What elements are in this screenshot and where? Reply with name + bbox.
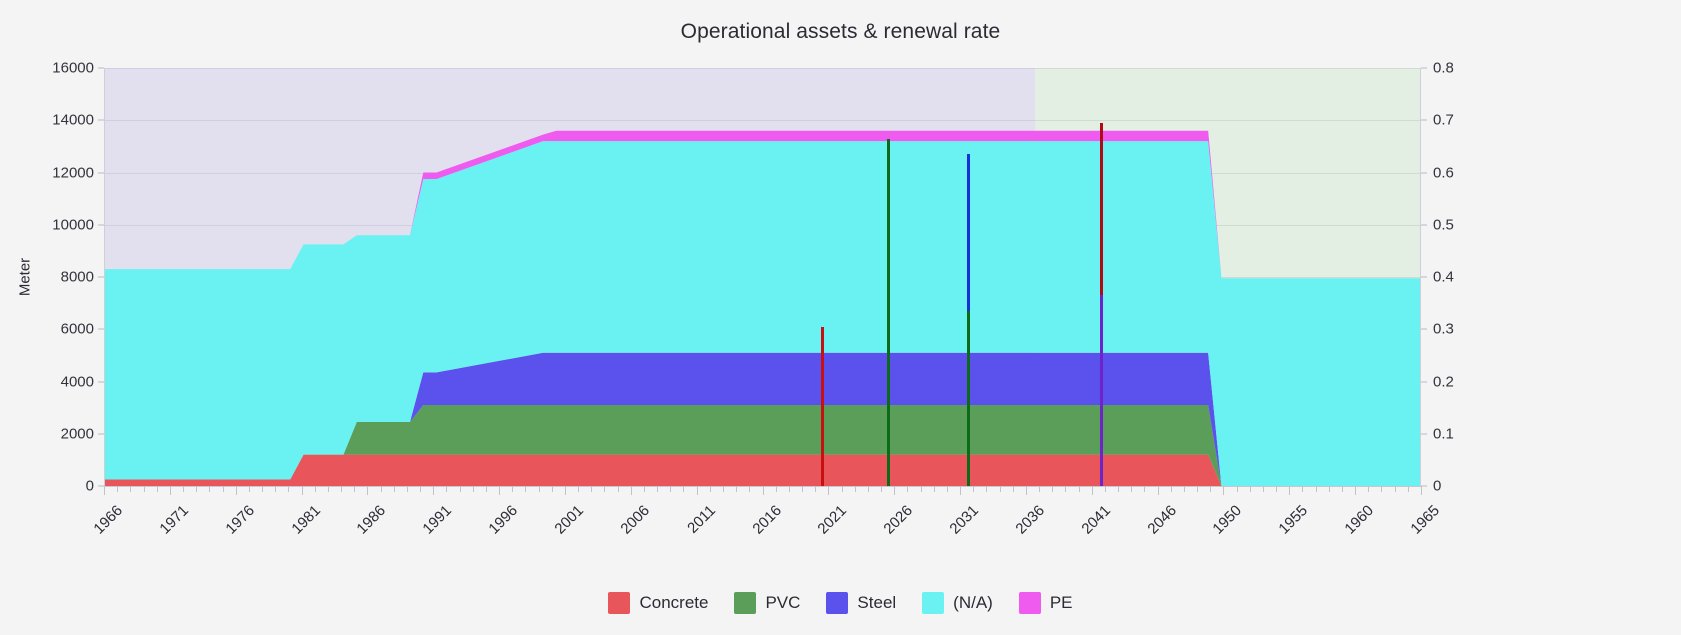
x-axis-tick-mark — [328, 486, 329, 492]
y-axis-right-tick-mark — [1421, 224, 1427, 225]
x-axis-tick-mark — [262, 486, 263, 492]
x-axis-tick-mark — [960, 486, 961, 495]
x-axis-tick-mark — [763, 486, 764, 495]
y-axis-right-tick-mark — [1421, 172, 1427, 173]
x-axis-tick-mark — [1395, 486, 1396, 492]
legend-label: PE — [1050, 593, 1073, 613]
x-axis-tick-label: 2011 — [684, 502, 719, 537]
x-axis-tick-mark — [1342, 486, 1343, 492]
x-axis-tick-label: 2006 — [617, 502, 653, 538]
plot-area — [104, 68, 1421, 486]
x-axis-tick-mark — [604, 486, 605, 492]
x-axis-tick-mark — [842, 486, 843, 492]
x-axis-tick-mark — [209, 486, 210, 492]
x-axis-tick-mark — [1302, 486, 1303, 492]
x-axis-tick-mark — [591, 486, 592, 492]
plot-border-left — [104, 68, 105, 486]
y-axis-right-tick-mark — [1421, 329, 1427, 330]
x-axis-tick-mark — [223, 486, 224, 492]
x-axis-tick-label: 1965 — [1407, 502, 1443, 538]
legend-item-pvc[interactable]: PVC — [734, 592, 800, 614]
y-axis-left-tick: 8000 — [61, 269, 94, 286]
x-axis-tick-label: 1955 — [1276, 502, 1312, 538]
x-axis-tick-mark — [934, 486, 935, 492]
x-axis-tick-mark — [1000, 486, 1001, 492]
x-axis-tick-mark — [802, 486, 803, 492]
x-axis-tick-mark — [868, 486, 869, 492]
x-axis-tick-mark — [473, 486, 474, 492]
x-axis-tick-mark — [1144, 486, 1145, 492]
x-axis-tick-mark — [1013, 486, 1014, 492]
x-axis-tick-mark — [1079, 486, 1080, 492]
y-axis-right-tick: 0.8 — [1433, 60, 1454, 77]
x-axis-tick-label: 2036 — [1012, 502, 1048, 538]
x-axis-tick-mark — [196, 486, 197, 492]
y-axis-right-tick-mark — [1421, 381, 1427, 382]
x-axis-tick-mark — [407, 486, 408, 492]
legend-item-steel[interactable]: Steel — [826, 592, 896, 614]
x-axis-tick-mark — [354, 486, 355, 492]
x-axis-tick-mark — [1118, 486, 1119, 492]
x-axis-tick-mark — [420, 486, 421, 492]
y-axis-left-tick: 4000 — [61, 373, 94, 390]
legend-swatch-icon — [826, 592, 848, 614]
y-axis-right-tick: 0.7 — [1433, 112, 1454, 129]
series-layer — [104, 68, 1421, 486]
x-axis-tick-mark — [236, 486, 237, 495]
y-axis-right-tick-mark — [1421, 433, 1427, 434]
x-axis-tick-label: 1981 — [288, 502, 324, 538]
x-axis-tick-mark — [525, 486, 526, 492]
x-axis-tick-mark — [723, 486, 724, 492]
y-axis-left-tick: 10000 — [52, 216, 94, 233]
x-axis-tick-mark — [1171, 486, 1172, 492]
y-axis-left-title: Meter — [17, 258, 34, 296]
y-axis-left-tick: 0 — [86, 478, 94, 495]
x-axis-tick-mark — [1421, 486, 1422, 495]
x-axis-tick-mark — [1197, 486, 1198, 492]
y-axis-right-tick-mark — [1421, 120, 1427, 121]
legend-label: Steel — [857, 593, 896, 613]
x-axis-tick-label: 1960 — [1342, 502, 1378, 538]
x-axis-tick-mark — [907, 486, 908, 492]
legend-item-concrete[interactable]: Concrete — [608, 592, 708, 614]
y-axis-right-tick-mark — [1421, 68, 1427, 69]
x-axis-tick-mark — [1381, 486, 1382, 492]
x-axis-tick-mark — [565, 486, 566, 495]
y-axis-right-title-wrap: Value.RenewalRatioOnQuantity — [1596, 68, 1681, 486]
legend-label: PVC — [765, 593, 800, 613]
y-axis-left-tick: 6000 — [61, 321, 94, 338]
legend-swatch-icon — [734, 592, 756, 614]
y-axis-left-tick: 14000 — [52, 112, 94, 129]
x-axis-tick-mark — [302, 486, 303, 495]
legend-item-na[interactable]: (N/A) — [922, 592, 993, 614]
x-axis-tick-mark — [921, 486, 922, 492]
x-axis-tick-label: 1996 — [485, 502, 521, 538]
x-axis-tick-mark — [631, 486, 632, 495]
x-axis-tick-label: 2026 — [881, 502, 917, 538]
x-axis-tick-label: 2046 — [1144, 502, 1180, 538]
y-axis-left: Meter 0200040006000800010000120001400016… — [0, 68, 104, 486]
x-axis-tick-label: 1991 — [420, 502, 456, 538]
x-axis-tick-mark — [749, 486, 750, 492]
x-axis-tick-mark — [539, 486, 540, 492]
x-axis-tick-mark — [249, 486, 250, 492]
y-axis-right-tick: 0 — [1433, 478, 1441, 495]
y-axis-right-tick: 0.1 — [1433, 425, 1454, 442]
x-axis-tick-mark — [381, 486, 382, 492]
x-axis-tick-mark — [512, 486, 513, 492]
y-axis-left-tick: 12000 — [52, 164, 94, 181]
legend-swatch-icon — [1019, 592, 1041, 614]
x-axis-tick-label: 1950 — [1210, 502, 1246, 538]
x-axis-tick-mark — [157, 486, 158, 492]
legend-label: (N/A) — [953, 593, 993, 613]
x-axis-tick-label: 2021 — [815, 502, 851, 538]
legend-swatch-icon — [922, 592, 944, 614]
marker-line — [821, 327, 824, 486]
x-axis-tick-mark — [1158, 486, 1159, 495]
x-axis-tick-mark — [1092, 486, 1093, 495]
x-axis-tick-mark — [1329, 486, 1330, 492]
x-axis-tick-mark — [1408, 486, 1409, 492]
x-axis-tick-label: 2001 — [551, 502, 587, 538]
legend-swatch-icon — [608, 592, 630, 614]
x-axis-tick-mark — [1026, 486, 1027, 495]
x-axis-tick-mark — [618, 486, 619, 492]
x-axis-tick-mark — [499, 486, 500, 495]
x-axis-tick-mark — [1223, 486, 1224, 495]
y-axis-right: 00.10.20.30.40.50.60.70.8 — [1421, 68, 1491, 486]
chart-root: Operational assets & renewal rate Meter … — [0, 0, 1681, 635]
marker-line — [967, 311, 970, 486]
x-axis-tick-label: 2016 — [749, 502, 785, 538]
x-axis-tick-mark — [1237, 486, 1238, 492]
x-axis-tick-mark — [710, 486, 711, 492]
x-axis-tick-mark — [486, 486, 487, 492]
x-axis-tick-mark — [552, 486, 553, 492]
marker-line — [1100, 295, 1103, 486]
x-axis-tick-label: 2041 — [1078, 502, 1114, 538]
marker-line — [887, 139, 890, 486]
x-axis-tick-mark — [815, 486, 816, 492]
x-axis-tick-mark — [104, 486, 105, 495]
x-axis-tick-mark — [460, 486, 461, 492]
x-axis-tick-mark — [341, 486, 342, 492]
x-axis-tick-mark — [1355, 486, 1356, 495]
x-axis-tick-mark — [657, 486, 658, 492]
x-axis-tick-mark — [644, 486, 645, 492]
x-axis-tick-mark — [1289, 486, 1290, 495]
y-axis-right-tick: 0.2 — [1433, 373, 1454, 390]
x-axis-tick-mark — [828, 486, 829, 495]
x-axis-tick-mark — [446, 486, 447, 492]
y-axis-right-tick: 0.4 — [1433, 269, 1454, 286]
x-axis-tick-mark — [1052, 486, 1053, 492]
chart-title: Operational assets & renewal rate — [0, 20, 1681, 44]
x-axis-tick-mark — [394, 486, 395, 492]
x-axis-tick-mark — [183, 486, 184, 492]
x-axis-tick-mark — [855, 486, 856, 492]
x-axis-tick-mark — [275, 486, 276, 492]
x-axis-tick-mark — [697, 486, 698, 495]
x-axis-tick-mark — [1105, 486, 1106, 492]
y-axis-right-tick: 0.3 — [1433, 321, 1454, 338]
x-axis-tick-mark — [1316, 486, 1317, 492]
x-axis-tick-mark — [776, 486, 777, 492]
x-axis-tick-mark — [881, 486, 882, 492]
x-axis-tick-mark — [1039, 486, 1040, 492]
x-axis-tick-mark — [144, 486, 145, 492]
legend-label: Concrete — [639, 593, 708, 613]
x-axis-tick-label: 1986 — [354, 502, 390, 538]
x-axis-tick-mark — [1131, 486, 1132, 492]
x-axis-tick-mark — [1263, 486, 1264, 492]
x-axis-tick-mark — [947, 486, 948, 492]
x-axis-tick-label: 1971 — [156, 502, 192, 538]
x-axis-tick-label: 1976 — [222, 502, 258, 538]
x-axis-tick-mark — [433, 486, 434, 495]
x-axis-tick-mark — [1276, 486, 1277, 492]
x-axis-tick-mark — [170, 486, 171, 495]
x-axis-tick-mark — [367, 486, 368, 495]
x-axis-tick-mark — [1368, 486, 1369, 492]
y-axis-left-tick: 16000 — [52, 60, 94, 77]
x-axis-tick-mark — [986, 486, 987, 492]
x-axis-tick-label: 1966 — [90, 502, 126, 538]
x-axis: 1966197119761981198619911996200120062011… — [104, 486, 1421, 546]
x-axis-tick-mark — [973, 486, 974, 492]
x-axis-tick-mark — [315, 486, 316, 492]
x-axis-tick-mark — [894, 486, 895, 495]
y-axis-right-tick: 0.6 — [1433, 164, 1454, 181]
x-axis-tick-mark — [1210, 486, 1211, 492]
x-axis-tick-mark — [789, 486, 790, 492]
y-axis-right-tick: 0.5 — [1433, 216, 1454, 233]
x-axis-tick-mark — [670, 486, 671, 492]
y-axis-right-tick-mark — [1421, 277, 1427, 278]
x-axis-tick-mark — [1065, 486, 1066, 492]
x-axis-tick-mark — [1250, 486, 1251, 492]
x-axis-tick-mark — [683, 486, 684, 492]
x-axis-tick-mark — [117, 486, 118, 492]
legend: ConcretePVCSteel(N/A)PE — [0, 592, 1681, 614]
x-axis-tick-mark — [1184, 486, 1185, 492]
x-axis-tick-label: 2031 — [946, 502, 982, 538]
x-axis-tick-mark — [130, 486, 131, 492]
x-axis-tick-mark — [578, 486, 579, 492]
x-axis-tick-mark — [288, 486, 289, 492]
x-axis-tick-mark — [736, 486, 737, 492]
y-axis-left-tick: 2000 — [61, 425, 94, 442]
legend-item-pe[interactable]: PE — [1019, 592, 1073, 614]
